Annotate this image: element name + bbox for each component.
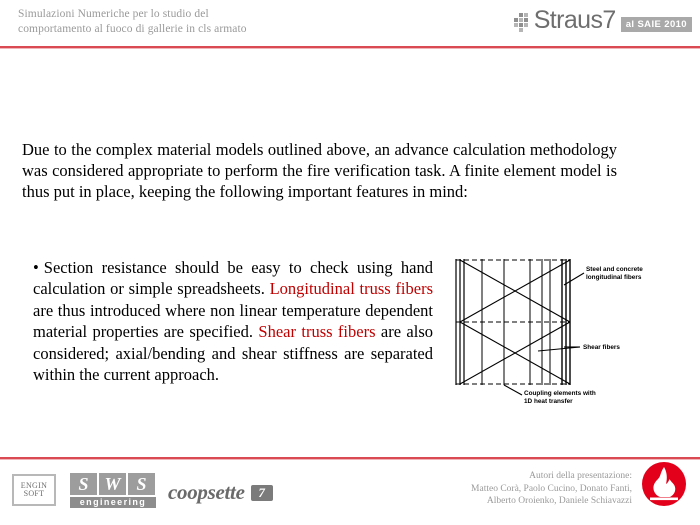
slide-header: Simulazioni Numeriche per lo studio del …: [0, 0, 700, 45]
header-title: Simulazioni Numeriche per lo studio del …: [18, 7, 348, 37]
bullet-icon: •: [33, 258, 39, 277]
figure-label-coupling-line1: Coupling elements with: [524, 390, 596, 397]
slide-footer: ENGIN SOFT S W S engineering coopsette 7…: [0, 462, 700, 525]
sws-engineering-logo: S W S engineering: [70, 473, 158, 509]
figure-label-longitudinal-line1: Steel and concrete: [586, 266, 643, 273]
highlight-longitudinal-truss-fibers: Longitudinal truss fibers: [270, 279, 433, 298]
flame-logo-icon: [636, 456, 692, 512]
slide-root: Simulazioni Numeriche per lo studio del …: [0, 0, 700, 525]
straus7-brand: Straus7 al SAIE 2010: [514, 8, 692, 33]
figure-label-shear: Shear fibers: [583, 344, 620, 351]
header-title-line1: Simulazioni Numeriche per lo studio del: [18, 7, 348, 22]
header-divider-fade: [0, 48, 700, 49]
diagram-svg: Steel and concrete longitudinal fibers S…: [452, 255, 692, 405]
sws-letter-1: S: [70, 473, 97, 495]
intro-paragraph: Due to the complex material models outli…: [22, 139, 617, 202]
authors-line1: Matteo Corà, Paolo Cucino, Donato Fanti,: [402, 483, 632, 496]
sws-subtitle: engineering: [70, 497, 156, 508]
sws-letters: S W S: [70, 473, 158, 495]
highlight-shear-truss-fibers: Shear truss fibers: [258, 322, 375, 341]
truss-fiber-model-diagram: Steel and concrete longitudinal fibers S…: [452, 255, 692, 405]
figure-label-coupling-line2: 1D heat transfer: [524, 398, 573, 405]
grid-squares-icon: [514, 13, 528, 32]
authors-credit: Autori della presentazione: Matteo Corà,…: [402, 470, 632, 508]
coopsette-logo: coopsette 7: [168, 480, 273, 505]
figure-label-longitudinal-line2: longitudinal fibers: [586, 274, 642, 281]
authors-label: Autori della presentazione:: [402, 470, 632, 483]
brand-badge: al SAIE 2010: [621, 17, 692, 32]
authors-line2: Alberto Oroienko, Daniele Schiavazzi: [402, 495, 632, 508]
enginsoft-logo-line2: SOFT: [24, 490, 45, 499]
sws-letter-3: S: [128, 473, 155, 495]
enginsoft-logo: ENGIN SOFT: [12, 474, 56, 506]
coopsette-seven-mark: 7: [251, 485, 273, 501]
sws-letter-2: W: [99, 473, 126, 495]
coopsette-wordmark: coopsette: [168, 480, 245, 505]
bullet-paragraph: •Section resistance should be easy to ch…: [33, 257, 433, 386]
brand-name: Straus7: [534, 8, 616, 33]
header-title-line2: comportamento al fuoco di gallerie in cl…: [18, 22, 348, 37]
footer-divider-fade: [0, 459, 700, 460]
